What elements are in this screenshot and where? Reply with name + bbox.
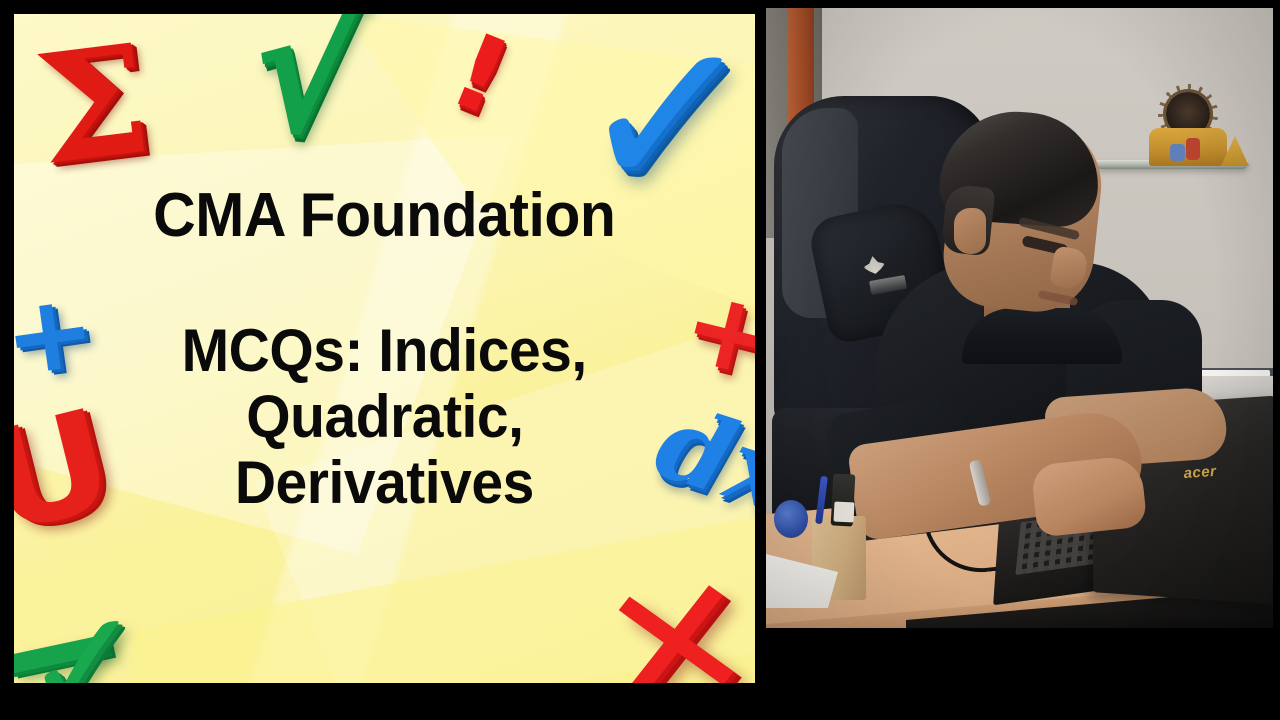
instructor-photo-panel: acer — [766, 8, 1273, 678]
tshirt-collar — [962, 308, 1122, 364]
photo-letterbox-bar — [766, 628, 1273, 678]
thumbnail-canvas: Σ √ ! ✓ + + U dx – ✓ ✕ CMA Foundation MC… — [0, 0, 1280, 720]
title-text-block: CMA Foundation MCQs: Indices, Quadratic,… — [14, 14, 755, 683]
page-title: CMA Foundation — [153, 185, 615, 247]
title-card-panel: Σ √ ! ✓ + + U dx – ✓ ✕ CMA Foundation MC… — [14, 14, 755, 683]
deity-idol-accent — [1170, 144, 1185, 161]
deity-idol-accent — [1186, 138, 1200, 160]
stylus-tip — [833, 501, 854, 522]
person-hand — [1031, 454, 1148, 537]
blue-tape-roll — [774, 500, 808, 538]
laptop-brand-logo: acer — [1176, 462, 1225, 481]
subtitle-line-two: Quadratic, — [246, 387, 523, 447]
subtitle-line-three: Derivatives — [235, 453, 534, 513]
person-ear — [954, 208, 986, 254]
subtitle-line-one: MCQs: Indices, — [182, 321, 587, 381]
